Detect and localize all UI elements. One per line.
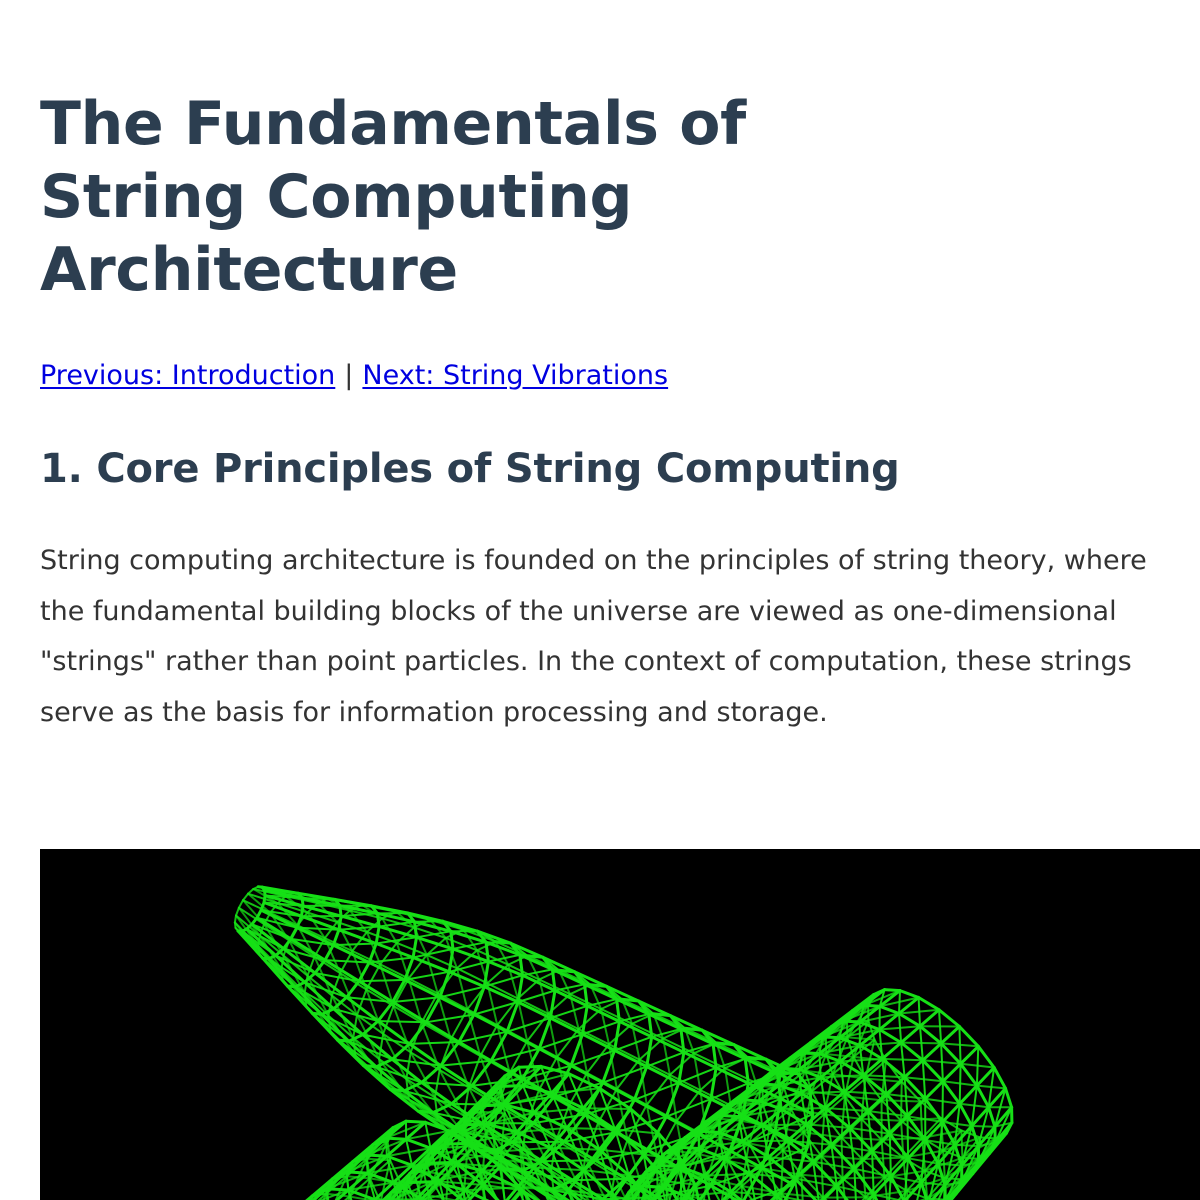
page-title: The Fundamentals of String Computing Arc… xyxy=(40,0,940,308)
nav-separator: | xyxy=(335,360,362,392)
chapter-navigation: Previous: Introduction|Next: String Vibr… xyxy=(40,360,1200,392)
section-paragraph: String computing architecture is founded… xyxy=(40,494,1148,739)
string-wireframe-icon xyxy=(40,849,1200,1200)
figure-string-wireframe xyxy=(40,849,1200,1200)
document-page: The Fundamentals of String Computing Arc… xyxy=(0,0,1200,1200)
section-heading-core-principles: 1. Core Principles of String Computing xyxy=(40,392,1200,494)
previous-chapter-link[interactable]: Previous: Introduction xyxy=(40,360,335,391)
next-chapter-link[interactable]: Next: String Vibrations xyxy=(362,360,668,391)
